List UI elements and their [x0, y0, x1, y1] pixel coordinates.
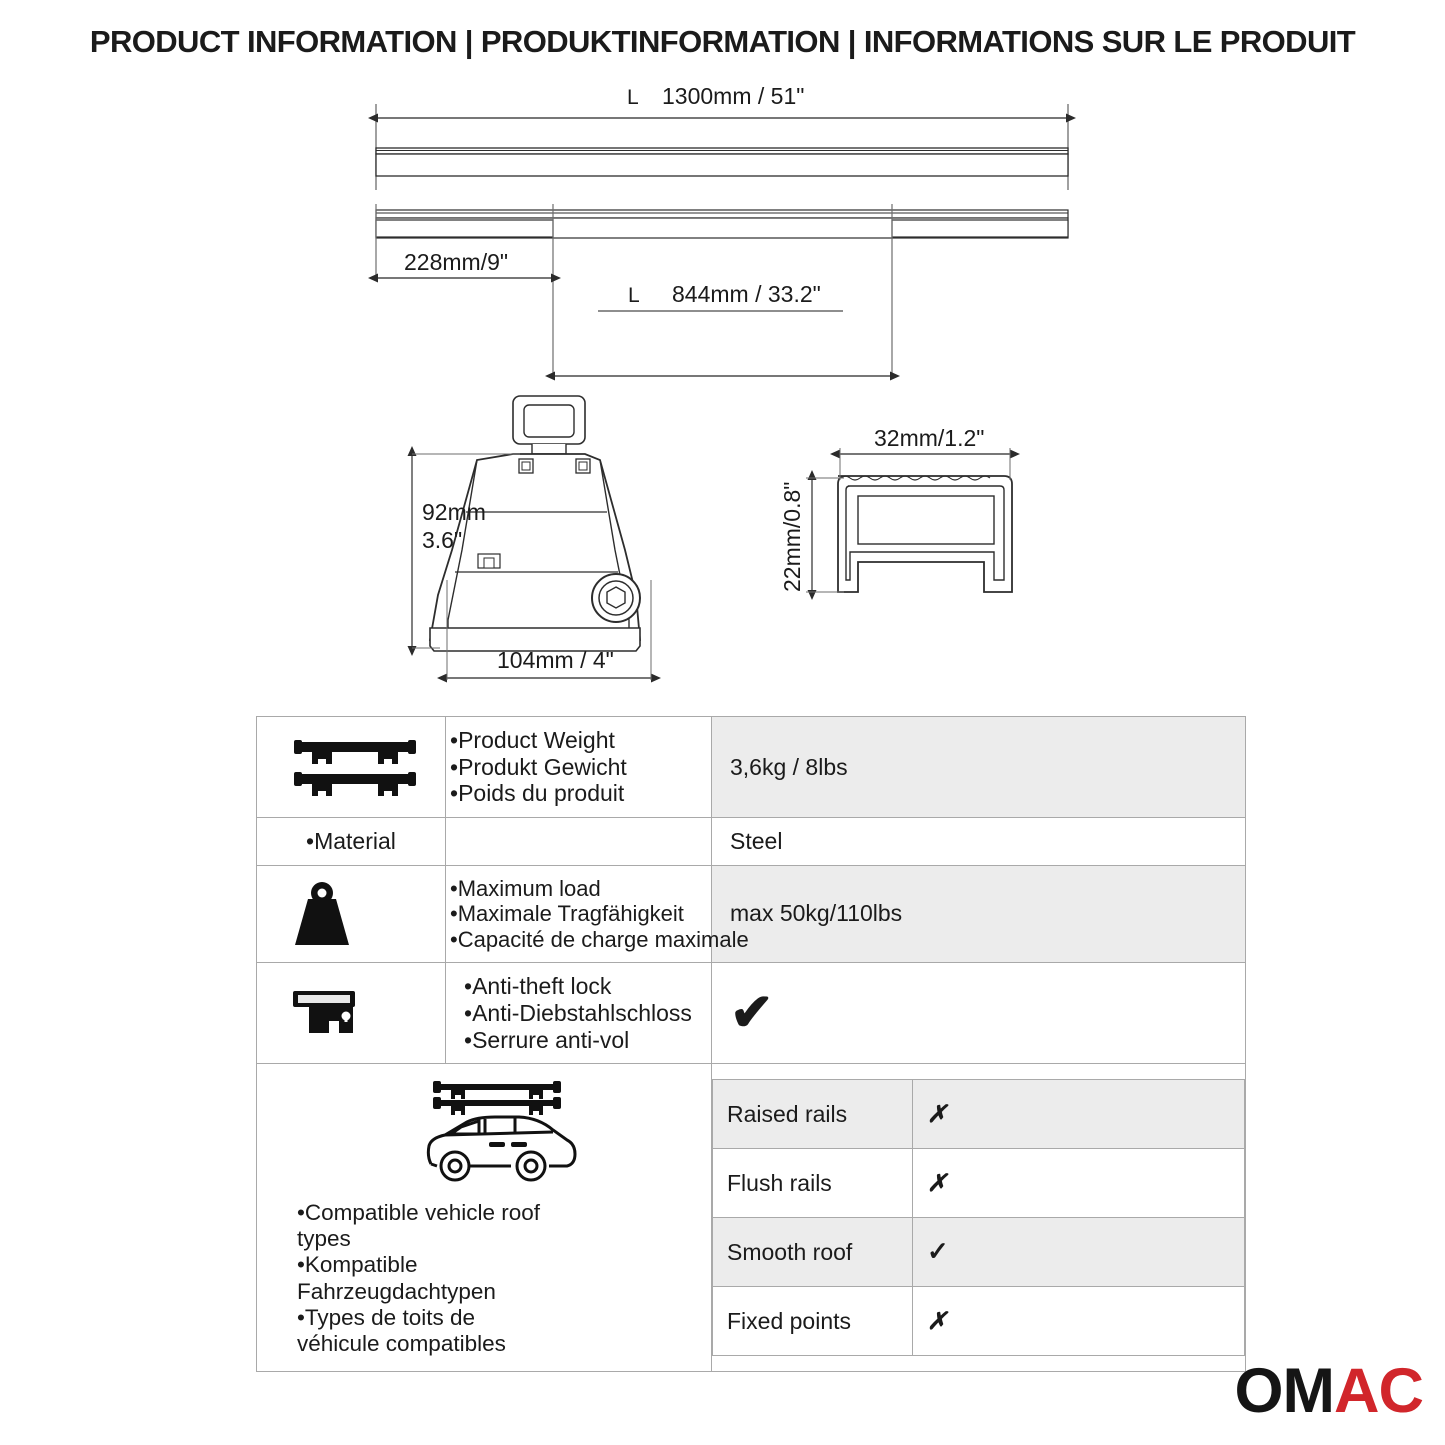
label-profile-width: 32mm/1.2" — [874, 425, 984, 451]
product-weight-labels: •Product Weight •Produkt Gewicht •Poids … — [446, 717, 712, 818]
option-name-raised-rails: Raised rails — [713, 1080, 913, 1149]
label-line: •Compatible vehicle roof types — [297, 1200, 552, 1252]
option-mark-fixed-points: ✗ — [913, 1287, 1245, 1356]
roof-types-labels-cell: •Compatible vehicle roof types •Kompatib… — [257, 1064, 712, 1372]
omac-logo: OMAC — [1235, 1360, 1423, 1423]
product-weight-value: 3,6kg / 8lbs — [712, 717, 1246, 818]
car-with-rack-icon — [415, 1078, 583, 1186]
option-name-smooth-roof: Smooth roof — [713, 1218, 913, 1287]
label-de: Kompatible Fahrzeugdachtypen — [297, 1252, 496, 1303]
table-row-raised-rails: Raised rails ✗ — [713, 1080, 1245, 1149]
label-de: Maximale Tragfähigkeit — [458, 901, 684, 926]
bullet: • — [464, 1000, 472, 1026]
cross-mark-icon: ✗ — [927, 1308, 947, 1335]
technical-drawing: L 1300mm / 51" 228mm/9" L 844mm / 33.2" — [0, 80, 1445, 700]
table-row-material: •Material Steel — [257, 818, 1246, 866]
crossbar-top-view — [376, 104, 1068, 190]
table-row-fixed-points: Fixed points ✗ — [713, 1287, 1245, 1356]
bullet: • — [297, 1305, 305, 1330]
label-line: •Maximum load — [450, 876, 705, 902]
label-line: •Maximale Tragfähigkeit — [450, 901, 705, 927]
maximum-load-value: max 50kg/110lbs — [712, 865, 1246, 963]
label-span-prefix: L — [628, 284, 640, 307]
page-title: PRODUCT INFORMATION | PRODUKTINFORMATION… — [0, 24, 1445, 60]
bullet: • — [464, 1027, 472, 1053]
table-row-flush-rails: Flush rails ✗ — [713, 1149, 1245, 1218]
table-row-maximum-load: •Maximum load •Maximale Tragfähigkeit •C… — [257, 865, 1246, 963]
label-line: •Capacité de charge maximale — [450, 927, 705, 953]
label-line: •Types de toits de véhicule compatibles — [297, 1305, 552, 1357]
label-line: •Product Weight — [450, 727, 705, 754]
bullet: • — [450, 780, 458, 806]
roof-types-labels: •Compatible vehicle roof types •Kompatib… — [297, 1200, 552, 1357]
anti-theft-lock-value: ✔ — [712, 963, 1246, 1064]
table-row-roof-types: •Compatible vehicle roof types •Kompatib… — [257, 1064, 1246, 1372]
weight-icon — [291, 881, 353, 947]
label-foot-offset: 228mm/9" — [404, 249, 508, 275]
label-foot-width: 104mm / 4" — [497, 647, 614, 673]
label-line: •Produkt Gewicht — [450, 754, 705, 781]
label-line: •Anti-Diebstahlschloss — [464, 1000, 705, 1027]
drawing-canvas: L 1300mm / 51" 228mm/9" L 844mm / 33.2" — [0, 80, 1445, 700]
option-name-flush-rails: Flush rails — [713, 1149, 913, 1218]
label-foot-height-in: 3.6" — [422, 527, 462, 553]
material-labels: •Material — [446, 818, 712, 866]
label-bar-length-prefix: L — [627, 86, 639, 109]
check-mark-icon: ✔ — [730, 984, 774, 1042]
label-de: Produkt Gewicht — [458, 754, 627, 780]
check-mark-icon: ✓ — [927, 1236, 949, 1266]
label-line: •Anti-theft lock — [464, 973, 705, 1000]
logo-text-red: AC — [1334, 1356, 1423, 1426]
bullet: • — [450, 876, 458, 901]
option-mark-smooth-roof: ✓ — [913, 1218, 1245, 1287]
label-de: Anti-Diebstahlschloss — [472, 1000, 692, 1026]
lock-icon — [291, 985, 367, 1041]
label-fr: Poids du produit — [458, 780, 624, 806]
label-line: •Serrure anti-vol — [464, 1027, 705, 1054]
table-row-anti-theft-lock: •Anti-theft lock •Anti-Diebstahlschloss … — [257, 963, 1246, 1064]
bullet: • — [297, 1252, 305, 1277]
label-line: •Kompatible Fahrzeugdachtypen — [297, 1252, 552, 1304]
bullet: • — [450, 927, 458, 952]
bullet: • — [450, 754, 458, 780]
label-en: Anti-theft lock — [472, 973, 611, 999]
roof-types-options-cell: Raised rails ✗ Flush rails ✗ — [712, 1064, 1246, 1372]
label-bar-length-value: 1300mm / 51" — [662, 83, 804, 109]
label-fr: Types de toits de véhicule compatibles — [297, 1305, 506, 1356]
label-line: •Poids du produit — [450, 780, 705, 807]
label-foot-height-mm: 92mm — [422, 499, 486, 525]
label-en: Maximum load — [458, 876, 601, 901]
anti-theft-lock-labels: •Anti-theft lock •Anti-Diebstahlschloss … — [446, 963, 712, 1064]
specification-table: •Product Weight •Produkt Gewicht •Poids … — [256, 716, 1246, 1372]
label-profile-height: 22mm/0.8" — [779, 482, 805, 592]
bullet: • — [450, 901, 458, 926]
label-en: Material — [314, 828, 396, 854]
crossbars-icon — [292, 736, 418, 798]
table-row-product-weight: •Product Weight •Produkt Gewicht •Poids … — [257, 717, 1246, 818]
bullet: • — [450, 727, 458, 753]
maximum-load-labels: •Maximum load •Maximale Tragfähigkeit •C… — [446, 865, 712, 963]
option-mark-flush-rails: ✗ — [913, 1149, 1245, 1218]
weight-icon-cell — [257, 865, 446, 963]
car-icon-wrap — [297, 1078, 701, 1186]
roof-types-subtable: Raised rails ✗ Flush rails ✗ — [712, 1079, 1245, 1356]
table-row-smooth-roof: Smooth roof ✓ — [713, 1218, 1245, 1287]
label-fr: Capacité de charge maximale — [458, 927, 749, 952]
lock-icon-cell — [257, 963, 446, 1064]
option-mark-raised-rails: ✗ — [913, 1080, 1245, 1149]
crossbars-icon-cell — [257, 717, 446, 818]
option-name-fixed-points: Fixed points — [713, 1287, 913, 1356]
cross-mark-icon: ✗ — [927, 1170, 947, 1197]
bullet: • — [297, 1200, 305, 1225]
label-en: Product Weight — [458, 727, 615, 753]
label-en: Compatible vehicle roof types — [297, 1200, 540, 1251]
logo-text-dark: OM — [1235, 1356, 1334, 1426]
bullet: • — [306, 828, 314, 854]
bar-cross-section-view — [806, 448, 1012, 592]
bullet: • — [464, 973, 472, 999]
label-span-value: 844mm / 33.2" — [672, 281, 821, 307]
label-fr: Serrure anti-vol — [472, 1027, 629, 1053]
material-value: Steel — [712, 818, 1246, 866]
label-line: •Material — [306, 828, 705, 855]
cross-mark-icon: ✗ — [927, 1101, 947, 1128]
